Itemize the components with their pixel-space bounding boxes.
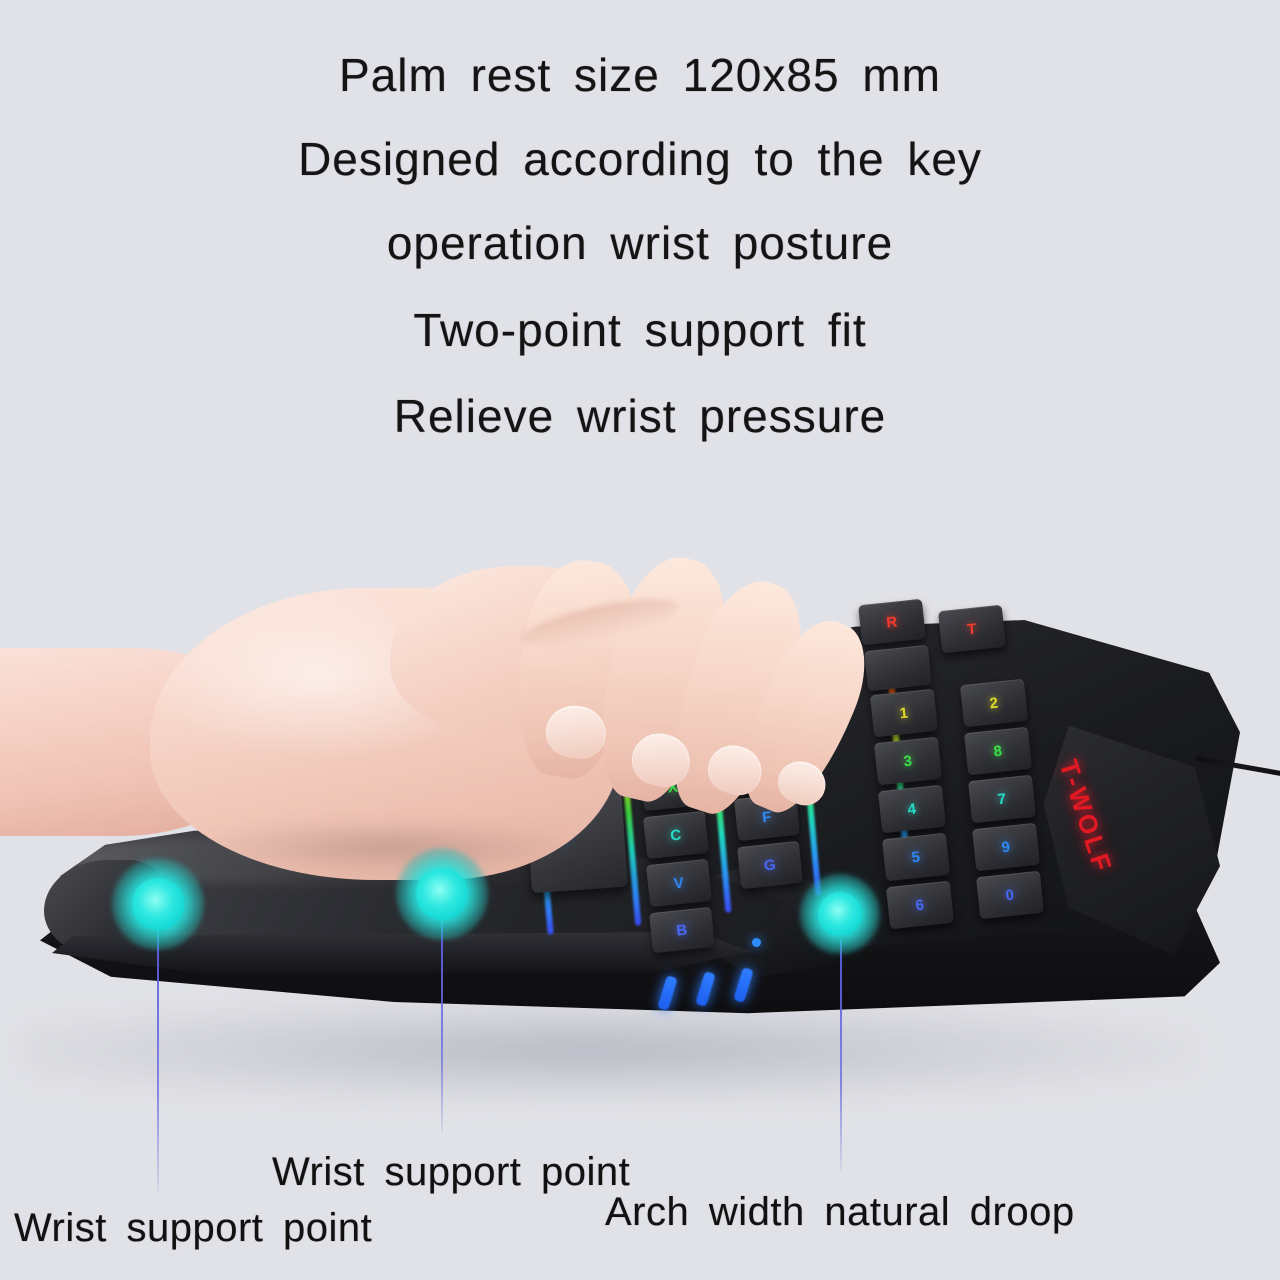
- wrist-support-marker-left: [112, 858, 204, 950]
- keycap-0[interactable]: 0: [976, 871, 1044, 919]
- keycap-8[interactable]: 8: [964, 727, 1032, 775]
- arch-width-marker: [800, 874, 880, 954]
- caption-arch-width: Arch width natural droop: [605, 1192, 1075, 1232]
- caption-wrist-support-left: Wrist support point: [14, 1208, 372, 1248]
- headline-line-5: Relieve wrist pressure: [0, 393, 1280, 439]
- headline-line-4: Two-point support fit: [0, 307, 1280, 353]
- keycap-t[interactable]: T: [938, 605, 1006, 653]
- callout-leader-line: [157, 930, 159, 1192]
- caption-wrist-support-mid: Wrist support point: [272, 1152, 630, 1192]
- headline-line-3: operation wrist posture: [0, 220, 1280, 266]
- wrist-support-marker-mid: [396, 848, 488, 940]
- callout-leader-line: [840, 940, 842, 1172]
- headline-line-1: Palm rest size 120x85 mm: [0, 52, 1280, 98]
- product-feature-image: Palm rest size 120x85 mm Designed accord…: [0, 0, 1280, 1280]
- callout-leader-line: [441, 920, 443, 1132]
- keycap-7[interactable]: 7: [968, 775, 1036, 823]
- keycap-9[interactable]: 9: [972, 823, 1040, 871]
- marker-core: [132, 878, 184, 930]
- hand-shadow: [130, 808, 650, 894]
- marker-core: [416, 868, 468, 920]
- headline-line-2: Designed according to the key: [0, 136, 1280, 182]
- keycap-2[interactable]: 2: [960, 679, 1028, 727]
